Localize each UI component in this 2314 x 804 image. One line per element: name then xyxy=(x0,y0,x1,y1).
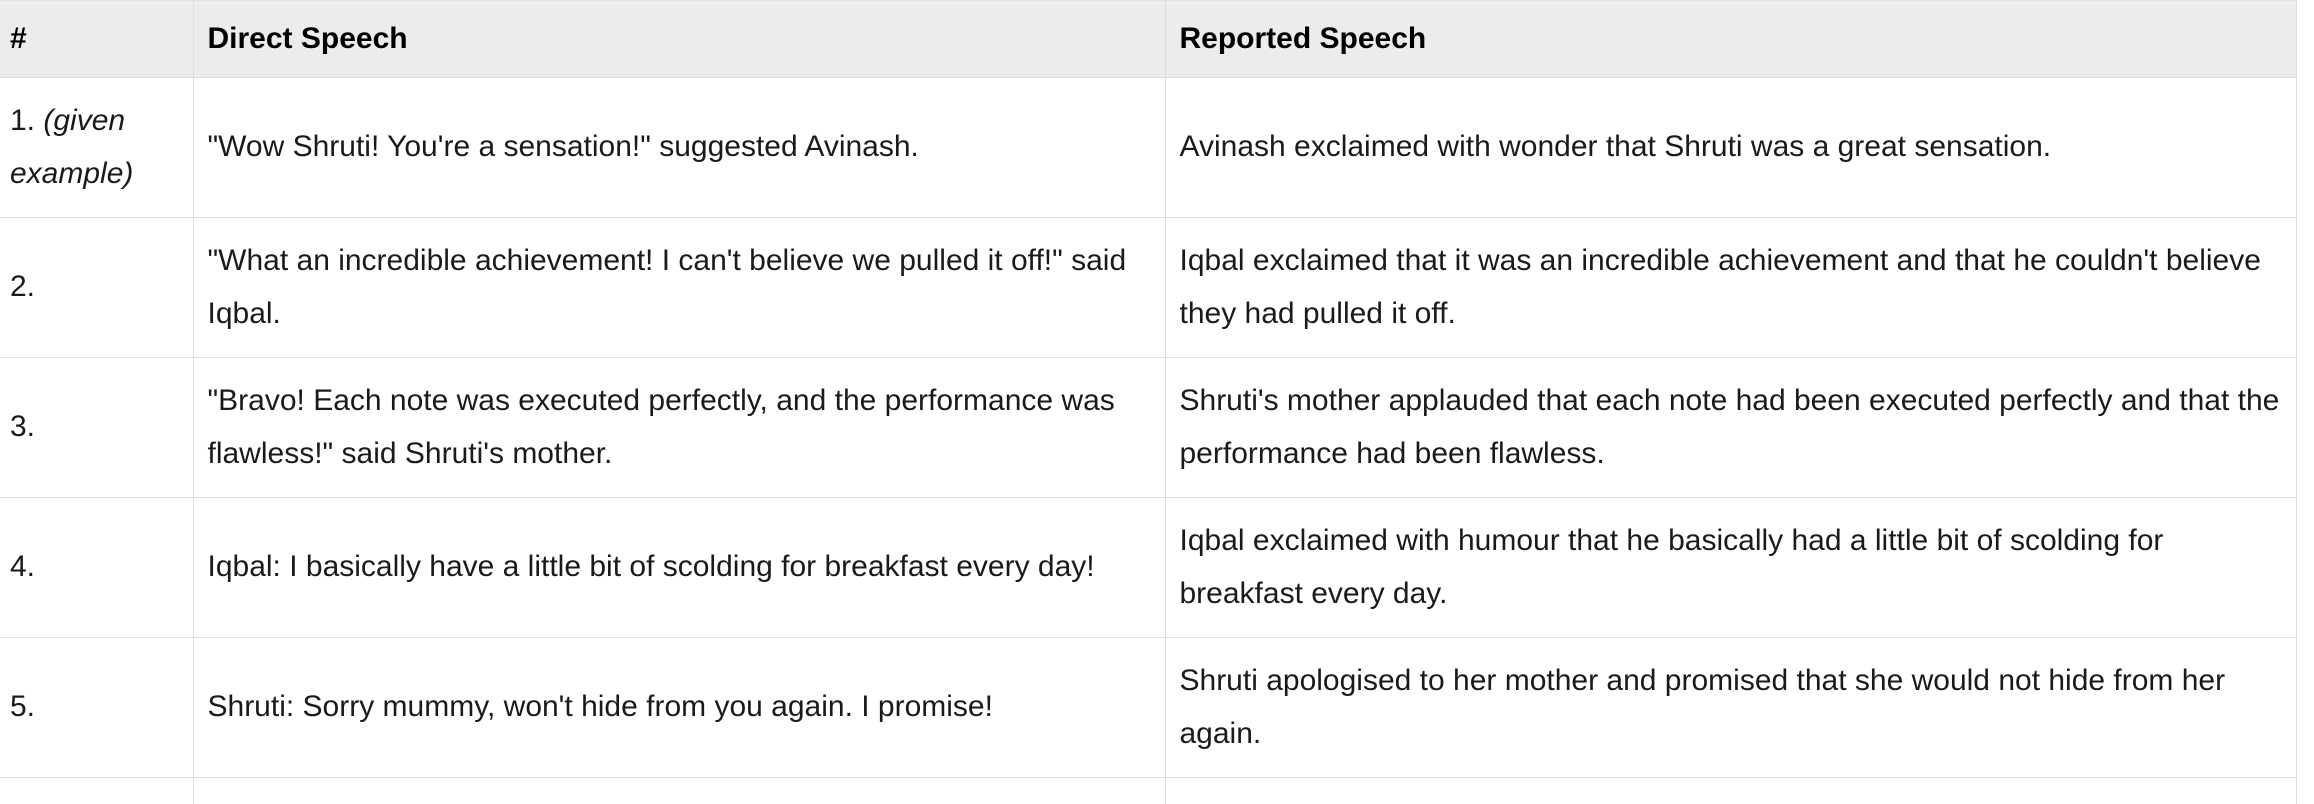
table-row: 2. "What an incredible achievement! I ca… xyxy=(0,218,2296,358)
cell-row-number: 6. xyxy=(0,778,193,804)
cell-reported-speech: Iqbal exclaimed with humour that he basi… xyxy=(1165,498,2296,638)
cell-direct-speech: Iqbal: I basically have a little bit of … xyxy=(193,498,1165,638)
cell-row-number: 3. xyxy=(0,358,193,498)
row-number-value: 2. xyxy=(10,270,35,303)
column-header-number: # xyxy=(0,1,193,78)
row-number-value: 3. xyxy=(10,410,35,443)
row-number-value: 1. xyxy=(10,104,35,137)
table-header: # Direct Speech Reported Speech xyxy=(0,1,2296,78)
cell-reported-speech: Avinash exclaimed that Shruti was a sens… xyxy=(1165,778,2296,804)
table-row: 4. Iqbal: I basically have a little bit … xyxy=(0,498,2296,638)
row-number-value: 4. xyxy=(10,550,35,583)
cell-row-number: 5. xyxy=(0,638,193,778)
direct-reported-speech-table: # Direct Speech Reported Speech 1. (give… xyxy=(0,0,2297,804)
cell-direct-speech: "Wow Shruti! You're a sensation!" sugges… xyxy=(193,78,1165,218)
cell-reported-speech: Shruti apologised to her mother and prom… xyxy=(1165,638,2296,778)
column-header-direct-speech: Direct Speech xyxy=(193,1,1165,78)
table-row: 1. (given example) "Wow Shruti! You're a… xyxy=(0,78,2296,218)
cell-direct-speech: "What an incredible achievement! I can't… xyxy=(193,218,1165,358)
column-header-reported-speech: Reported Speech xyxy=(1165,1,2296,78)
cell-reported-speech: Avinash exclaimed with wonder that Shrut… xyxy=(1165,78,2296,218)
table-container: # Direct Speech Reported Speech 1. (give… xyxy=(0,0,2314,804)
table-row: 3. "Bravo! Each note was executed perfec… xyxy=(0,358,2296,498)
row-number-value: 5. xyxy=(10,690,35,723)
cell-reported-speech: Shruti's mother applauded that each note… xyxy=(1165,358,2296,498)
table-header-row: # Direct Speech Reported Speech xyxy=(0,1,2296,78)
cell-direct-speech: Shruti: Sorry mummy, won't hide from you… xyxy=(193,638,1165,778)
cell-row-number: 4. xyxy=(0,498,193,638)
table-body: 1. (given example) "Wow Shruti! You're a… xyxy=(0,78,2296,804)
cell-reported-speech: Iqbal exclaimed that it was an incredibl… xyxy=(1165,218,2296,358)
table-row: 5. Shruti: Sorry mummy, won't hide from … xyxy=(0,638,2296,778)
cell-row-number: 1. (given example) xyxy=(0,78,193,218)
table-row: 6. Avinash: You are a sensation now! The… xyxy=(0,778,2296,804)
cell-direct-speech: Avinash: You are a sensation now! The le… xyxy=(193,778,1165,804)
cell-direct-speech: "Bravo! Each note was executed perfectly… xyxy=(193,358,1165,498)
cell-row-number: 2. xyxy=(0,218,193,358)
